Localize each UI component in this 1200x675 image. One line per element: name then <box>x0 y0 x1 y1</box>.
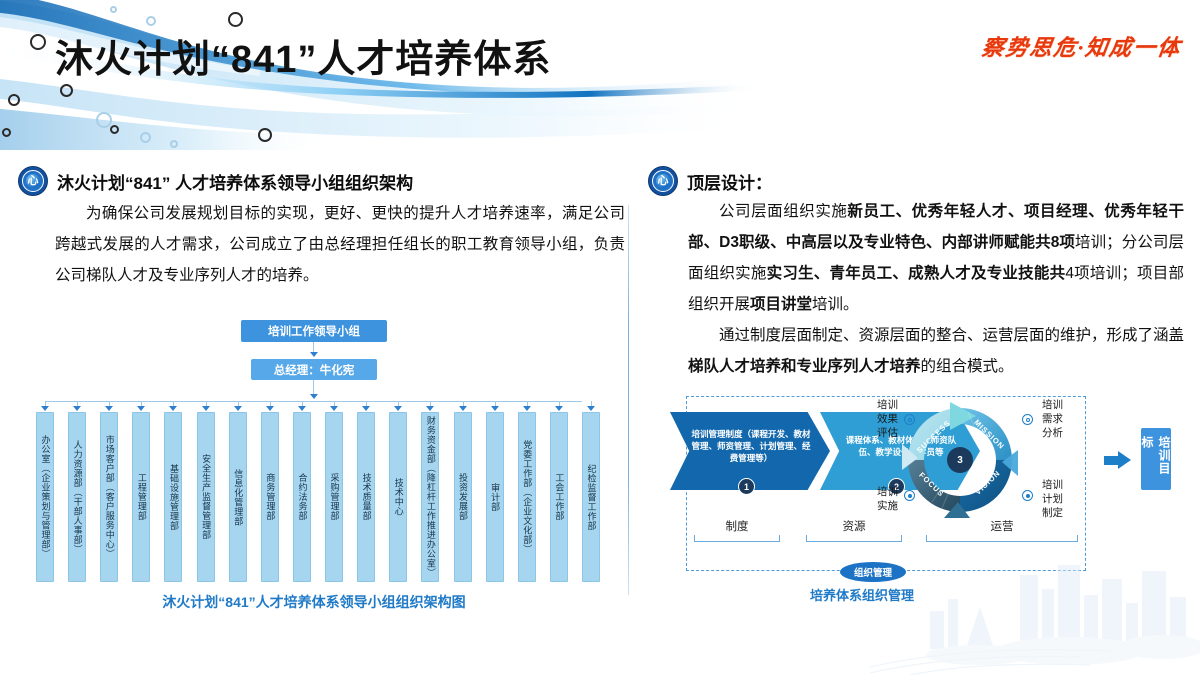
org-department-label: 信息化管理部 <box>232 469 243 526</box>
org-connector-arrow <box>298 406 306 411</box>
corner-label-bottom-right: 培训计划制定 <box>1042 478 1078 520</box>
brace-label-2: 资源 <box>806 518 902 534</box>
company-emblem-icon: 心 <box>18 166 48 196</box>
org-department-label: 办公室（企业策划与管理部） <box>40 435 51 559</box>
org-department-label: 合约法务部 <box>296 473 307 521</box>
diagram-cycle-wheel[interactable]: SUCCESS MISSION VISION FOCUS 3 <box>898 398 1022 522</box>
left-section-header: 心 沐火计划“841” 人才培养体系领导小组组织架构 <box>18 166 413 196</box>
bubble-decoration <box>140 132 151 143</box>
bullet-bottom-left <box>904 490 915 501</box>
org-connector-arrow <box>523 406 531 411</box>
org-department-box[interactable]: 采购管理部 <box>325 412 343 582</box>
bullet-top-left <box>904 414 915 425</box>
org-department-box[interactable]: 党委工作部（企业文化部） <box>518 412 536 582</box>
brace-2 <box>806 535 902 542</box>
left-section-title: 沐火计划“841” 人才培养体系领导小组组织架构 <box>57 169 413 194</box>
right-section-header: 心 顶层设计： <box>648 166 772 196</box>
header-banner: 沐火计划“841”人才培养体系 察势思危·知成一体 <box>0 0 1200 150</box>
bubble-decoration <box>110 125 119 134</box>
right-paragraph-1: 公司层面组织实施新员工、优秀年轻人才、项目经理、优秀年轻干部、D3职级、中高层以… <box>688 196 1184 320</box>
org-second-node[interactable]: 总经理：牛化宪 <box>251 359 377 380</box>
org-department-label: 投资发展部 <box>457 473 468 521</box>
bubble-decoration <box>146 16 156 26</box>
org-department-label: 人力资源部（干部人事部） <box>72 440 83 554</box>
org-connector-arrow <box>105 406 113 411</box>
company-slogan: 察势思危·知成一体 <box>980 30 1184 62</box>
bubble-decoration <box>60 84 73 97</box>
org-connector-arrow <box>266 406 274 411</box>
org-top-node[interactable]: 培训工作领导小组 <box>241 320 387 342</box>
org-department-label: 工会工作部 <box>553 473 564 521</box>
brace-3 <box>926 535 1078 542</box>
diagram-step-1-number: 1 <box>738 478 755 495</box>
city-skyline-watermark <box>870 555 1200 675</box>
org-connector-arrow <box>234 406 242 411</box>
org-department-box[interactable]: 市场客户部（客户服务中心） <box>100 412 118 582</box>
org-department-label: 纪检监督工作部 <box>586 464 597 531</box>
org-department-box[interactable]: 商务管理部 <box>261 412 279 582</box>
org-department-label: 党委工作部（企业文化部） <box>521 440 532 554</box>
bubble-decoration <box>30 34 46 50</box>
page-title: 沐火计划“841”人才培养体系 <box>55 28 551 83</box>
org-department-box[interactable]: 财务资金部（降杠杆工作推进办公室） <box>421 412 439 582</box>
org-connector-arrow <box>202 406 210 411</box>
company-emblem-icon: 心 <box>648 166 678 196</box>
org-connector-arrow <box>330 406 338 411</box>
right-paragraph-2: 通过制度层面制定、资源层面的整合、运营层面的维护，形成了涵盖梯队人才培养和专业序… <box>688 320 1184 382</box>
bubble-decoration <box>8 94 20 106</box>
left-section-paragraph: 为确保公司发展规划目标的实现，更好、更快的提升人才培养速率，满足公司跨越式发展的… <box>55 198 625 291</box>
org-connector-arrow <box>587 406 595 411</box>
org-department-box[interactable]: 基础设施管理部 <box>164 412 182 582</box>
org-department-box[interactable]: 技术质量部 <box>357 412 375 582</box>
org-department-box[interactable]: 工程管理部 <box>132 412 150 582</box>
org-connector-arrow <box>73 406 81 411</box>
org-connector-arrow <box>459 406 467 411</box>
org-connector-arrow <box>491 406 499 411</box>
goal-box[interactable]: 培训目标 <box>1141 428 1171 490</box>
org-department-box[interactable]: 投资发展部 <box>454 412 472 582</box>
brace-1 <box>694 535 780 542</box>
org-connector-arrow <box>426 406 434 411</box>
org-connector-arrow <box>41 406 49 411</box>
org-connector-arrow <box>394 406 402 411</box>
bubble-decoration <box>96 112 112 128</box>
corner-label-bottom-left: 培训实施 <box>864 485 898 513</box>
org-department-label: 工程管理部 <box>136 473 147 521</box>
org-department-label: 技术质量部 <box>361 473 372 521</box>
goal-arrow-icon <box>1118 451 1131 469</box>
bubble-decoration <box>228 12 243 27</box>
bubble-decoration <box>2 128 11 137</box>
bubble-decoration <box>258 128 272 142</box>
org-connector-arrow <box>169 406 177 411</box>
org-chart: 培训工作领导小组 总经理：牛化宪 办公室（企业策划与管理部）人力资源部（干部人事… <box>0 312 628 612</box>
brace-label-3: 运营 <box>926 518 1078 534</box>
org-connector-arrow <box>555 406 563 411</box>
org-department-box[interactable]: 纪检监督工作部 <box>582 412 600 582</box>
right-section-title: 顶层设计： <box>687 169 772 194</box>
org-department-label: 财务资金部（降杠杆工作推进办公室） <box>425 416 436 578</box>
brace-label-1: 制度 <box>694 518 780 534</box>
org-department-box[interactable]: 人力资源部（干部人事部） <box>68 412 86 582</box>
org-department-label: 技术中心 <box>393 478 404 516</box>
bubble-decoration <box>170 140 178 148</box>
corner-label-top-right: 培训需求分析 <box>1042 398 1078 440</box>
org-department-box[interactable]: 工会工作部 <box>550 412 568 582</box>
org-connector-arrow <box>362 406 370 411</box>
goal-arrow-stem <box>1104 456 1118 465</box>
org-department-box[interactable]: 技术中心 <box>389 412 407 582</box>
org-connector-arrow <box>137 406 145 411</box>
bullet-bottom-right <box>1022 490 1033 501</box>
left-panel-caption: 沐火计划“841”人才培养体系领导小组组织架构图 <box>0 592 628 612</box>
corner-label-top-left: 培训效果评估 <box>864 398 898 440</box>
org-department-box[interactable]: 审计部 <box>486 412 504 582</box>
org-department-label: 商务管理部 <box>264 473 275 521</box>
bubble-decoration <box>110 6 117 13</box>
org-department-box[interactable]: 合约法务部 <box>293 412 311 582</box>
org-department-label: 采购管理部 <box>329 473 340 521</box>
org-department-box[interactable]: 信息化管理部 <box>229 412 247 582</box>
org-department-label: 审计部 <box>489 483 500 512</box>
org-department-box[interactable]: 办公室（企业策划与管理部） <box>36 412 54 582</box>
org-department-box[interactable]: 安全生产监督管理部 <box>197 412 215 582</box>
org-department-label: 安全生产监督管理部 <box>200 454 211 540</box>
wheel-center-number: 3 <box>947 447 973 473</box>
bullet-top-right <box>1022 414 1033 425</box>
org-department-label: 基础设施管理部 <box>168 464 179 531</box>
org-department-label: 市场客户部（客户服务中心） <box>104 435 115 559</box>
